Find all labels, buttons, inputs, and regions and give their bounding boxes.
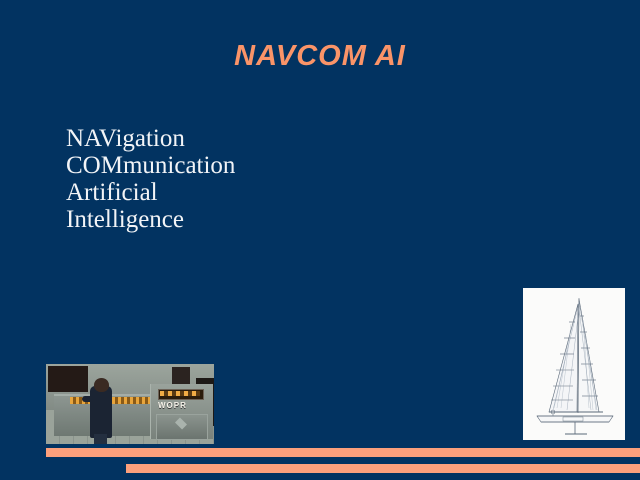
wopr-photo-person-body xyxy=(90,386,112,438)
body-line-communication: COMmunication xyxy=(66,152,235,179)
wopr-photo-person-head xyxy=(94,378,109,392)
body-line-intelligence: Intelligence xyxy=(66,206,235,233)
sailboat-svg xyxy=(523,288,625,440)
slide-title: NAVCOM AI xyxy=(0,39,640,73)
wopr-machine-label: WOPR xyxy=(158,401,204,410)
sailboat-technical-drawing xyxy=(523,288,625,440)
accent-bar-bottom xyxy=(126,464,640,473)
body-line-navigation: NAVigation xyxy=(66,125,235,152)
wopr-photo-wall-panel xyxy=(48,366,88,392)
presentation-slide: NAVCOM AI NAVigation COMmunication Artif… xyxy=(0,0,640,480)
wopr-photo-screen-glow xyxy=(160,391,200,396)
wopr-computer-photo: WOPR xyxy=(46,364,214,444)
accent-bar-top xyxy=(46,448,640,457)
wopr-photo-person-legs xyxy=(94,434,107,444)
body-line-artificial: Artificial xyxy=(66,179,235,206)
body-text-block: NAVigation COMmunication Artificial Inte… xyxy=(66,125,235,233)
